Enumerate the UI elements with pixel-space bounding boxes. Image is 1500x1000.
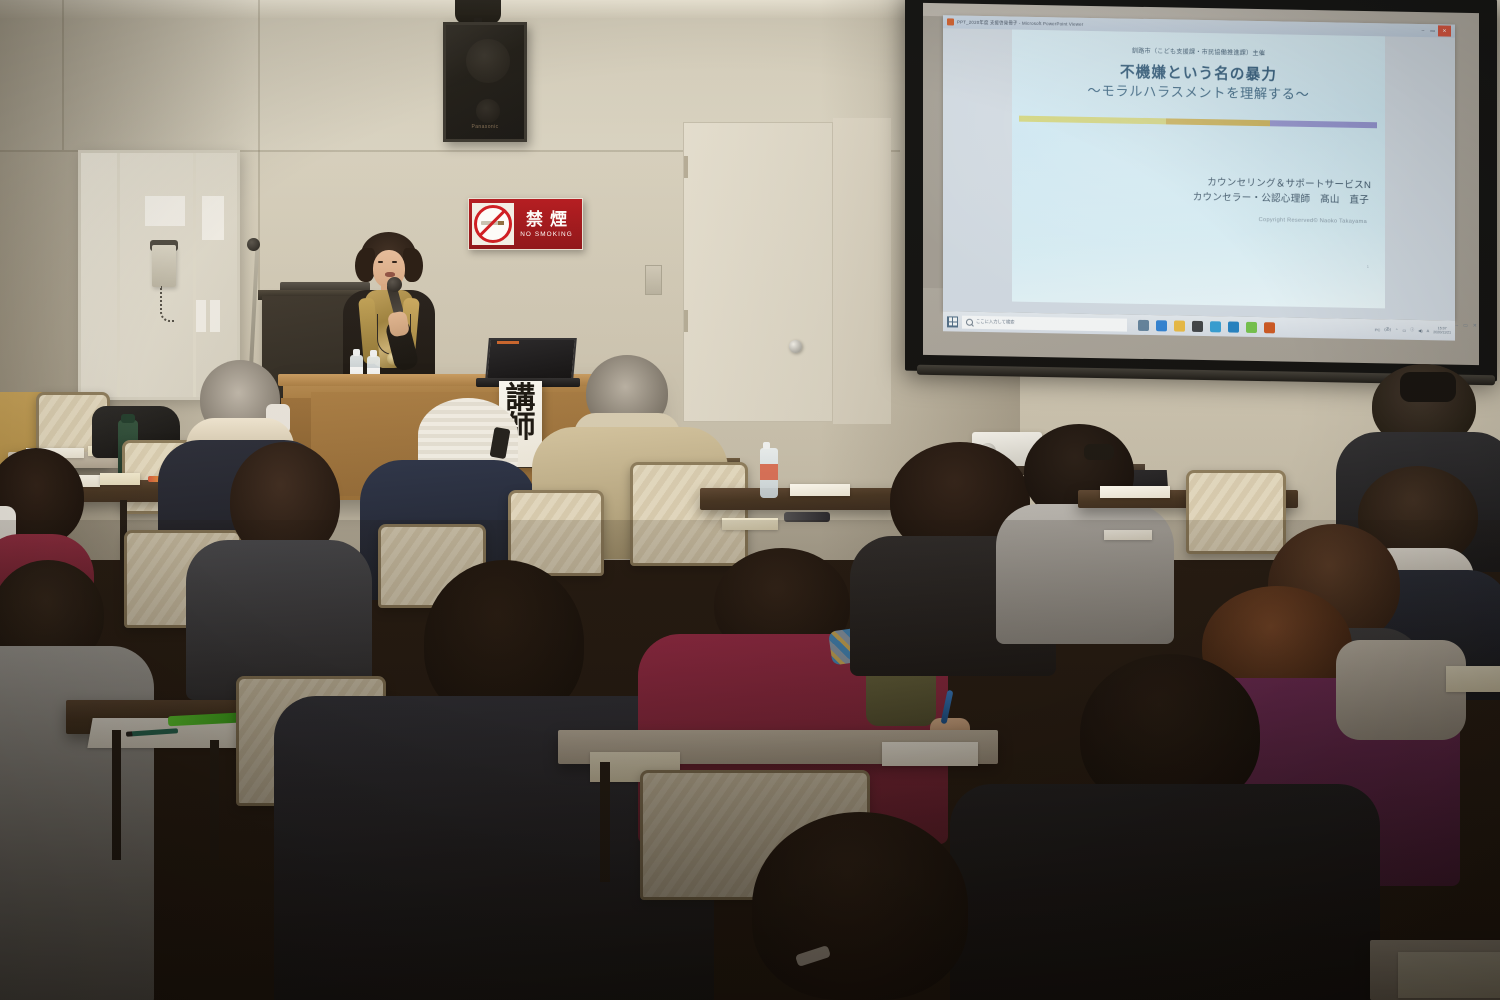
presenter-hair-left	[355, 248, 375, 282]
handout-mid-right	[790, 484, 850, 496]
powerpoint-slide: 釧路市（こども支援課・市民協働推進課）主催 不機嫌という名の暴力 〜モラルハラス…	[1012, 30, 1385, 309]
bottle-label	[760, 464, 778, 480]
pen-case-mid[interactable]	[784, 512, 830, 522]
table-leg-front-left-b	[210, 740, 219, 860]
tray-item[interactable]: ◀)	[1418, 327, 1422, 332]
slide-page-number: 1	[1367, 264, 1369, 269]
telephone-cord	[160, 286, 174, 322]
table-leg-center-front	[600, 762, 610, 882]
laptop-status-strip	[497, 341, 519, 344]
edge-browser-icon[interactable]	[1156, 320, 1167, 331]
audience-hair-clip	[1084, 444, 1114, 460]
presenter-eye-left	[378, 261, 383, 263]
taskbar-system-tray[interactable]: PC(あ)⌃▭ⓘ◀)A 15:07 2020/11/21	[1375, 325, 1451, 335]
handout-bottom-right	[1398, 952, 1500, 998]
wall-telephone-body[interactable]	[152, 245, 176, 287]
table-leg-front-left-a	[112, 730, 121, 860]
presenter-hair-right	[403, 248, 423, 282]
tray-item[interactable]: (あ)	[1384, 326, 1391, 332]
audience-bottom-center	[700, 812, 1010, 1000]
taskbar-search-placeholder: ここに入力して検索	[976, 319, 1015, 326]
tray-item[interactable]: ⌃	[1395, 327, 1398, 332]
no-smoking-icon	[472, 203, 514, 245]
projection-screen-surface: PPT_2020年度 支援啓発冊子 - Microsoft PowerPoint…	[923, 3, 1479, 365]
tray-item[interactable]: ⓘ	[1410, 327, 1414, 333]
no-smoking-en-label: NO SMOKING	[514, 231, 579, 238]
audience-gray-hoodie	[0, 560, 150, 1000]
handout-right-back-2	[1104, 530, 1152, 540]
window-close-button[interactable]: ✕	[1438, 25, 1451, 36]
door-hinge-bottom	[684, 310, 688, 332]
handout-right-back	[1100, 486, 1170, 498]
presenter-eye-right	[392, 261, 397, 263]
search-icon	[966, 318, 973, 325]
door-knob[interactable]	[789, 340, 802, 353]
audience-hair-accessory	[1400, 372, 1456, 402]
powerpoint-icon[interactable]	[1264, 322, 1275, 333]
microphone-head-icon	[387, 277, 402, 292]
explorer-window-controls[interactable]: – ▭ ✕	[1455, 323, 1477, 329]
tray-item[interactable]: PC	[1375, 327, 1381, 332]
speaker-driver-icon	[466, 39, 510, 83]
segment-gold	[1166, 118, 1270, 126]
door-hinge-top	[684, 156, 688, 178]
panasonic-wall-speaker: Panasonic	[443, 22, 527, 142]
pointer-stick-knob[interactable]	[247, 238, 260, 251]
explorer-minimize-icon[interactable]: –	[1455, 323, 1458, 329]
speaker-tweeter-icon	[476, 99, 500, 123]
taskbar-clock-date: 2020/11/21	[1433, 330, 1451, 334]
handout-row2-left-2	[100, 473, 140, 485]
handout-right-mid	[1446, 666, 1500, 692]
audience-torso	[950, 784, 1380, 1000]
window-maximize-button[interactable]: ▭	[1430, 28, 1435, 34]
no-smoking-jp-label: 禁煙	[514, 211, 579, 228]
tray-item[interactable]: ▭	[1402, 327, 1406, 332]
wall-notice-2	[202, 196, 224, 240]
water-bottle-mid[interactable]	[760, 448, 778, 498]
seminar-room-photo: Panasonic 禁煙 NO SMOKING	[0, 0, 1500, 1000]
speaker-brand-label: Panasonic	[446, 124, 524, 130]
projected-desktop: PPT_2020年度 支援啓発冊子 - Microsoft PowerPoint…	[923, 3, 1479, 365]
security-icon[interactable]	[1192, 320, 1203, 331]
explorer-maximize-icon[interactable]: ▭	[1463, 323, 1468, 329]
mail-icon[interactable]	[1210, 321, 1221, 332]
slide-accent-bar	[1019, 116, 1377, 129]
powerpoint-window-title: PPT_2020年度 支援啓発冊子 - Microsoft PowerPoint…	[957, 19, 1083, 27]
start-menu-icon[interactable]	[947, 316, 958, 327]
window-minimize-button[interactable]: –	[1421, 28, 1424, 34]
audience-head	[752, 812, 968, 1000]
powerpoint-app-icon	[947, 18, 954, 25]
explorer-close-icon[interactable]: ✕	[1473, 323, 1477, 329]
segment-periwinkle	[1270, 120, 1377, 128]
no-smoking-sign: 禁煙 NO SMOKING	[468, 198, 583, 250]
taskbar-app-list[interactable]	[1138, 319, 1275, 333]
legacy-edge-icon[interactable]	[1228, 321, 1239, 332]
wall-notice-3	[196, 300, 206, 332]
slide-host-line: 釧路市（こども支援課・市民協働推進課）主催	[1012, 44, 1385, 60]
handout-mid-right-2	[722, 518, 778, 530]
taskbar-search-input[interactable]: ここに入力して検索	[962, 315, 1127, 331]
door-side-panel	[833, 118, 891, 424]
slide-copyright-line: Copyright Reserved© Naoko Takayama	[1012, 213, 1367, 226]
segment-yellow-green	[1019, 116, 1166, 125]
taskbar-clock[interactable]: 15:07 2020/11/21	[1433, 326, 1451, 335]
wall-notice-1	[145, 196, 185, 226]
wall-notice-4	[210, 300, 220, 332]
light-switch-plate[interactable]	[645, 265, 662, 295]
app-green-icon[interactable]	[1246, 321, 1257, 332]
task-view-icon[interactable]	[1138, 319, 1149, 330]
projection-screen-assembly: PPT_2020年度 支援啓発冊子 - Microsoft PowerPoint…	[905, 0, 1500, 394]
file-explorer-icon[interactable]	[1174, 320, 1185, 331]
green-thermos-cap	[121, 414, 135, 423]
partition-rail-1	[117, 153, 120, 397]
powerpoint-window[interactable]: PPT_2020年度 支援啓発冊子 - Microsoft PowerPoint…	[943, 15, 1455, 320]
audience-front-right-black	[960, 654, 1380, 1000]
tray-item[interactable]: A	[1427, 328, 1430, 333]
